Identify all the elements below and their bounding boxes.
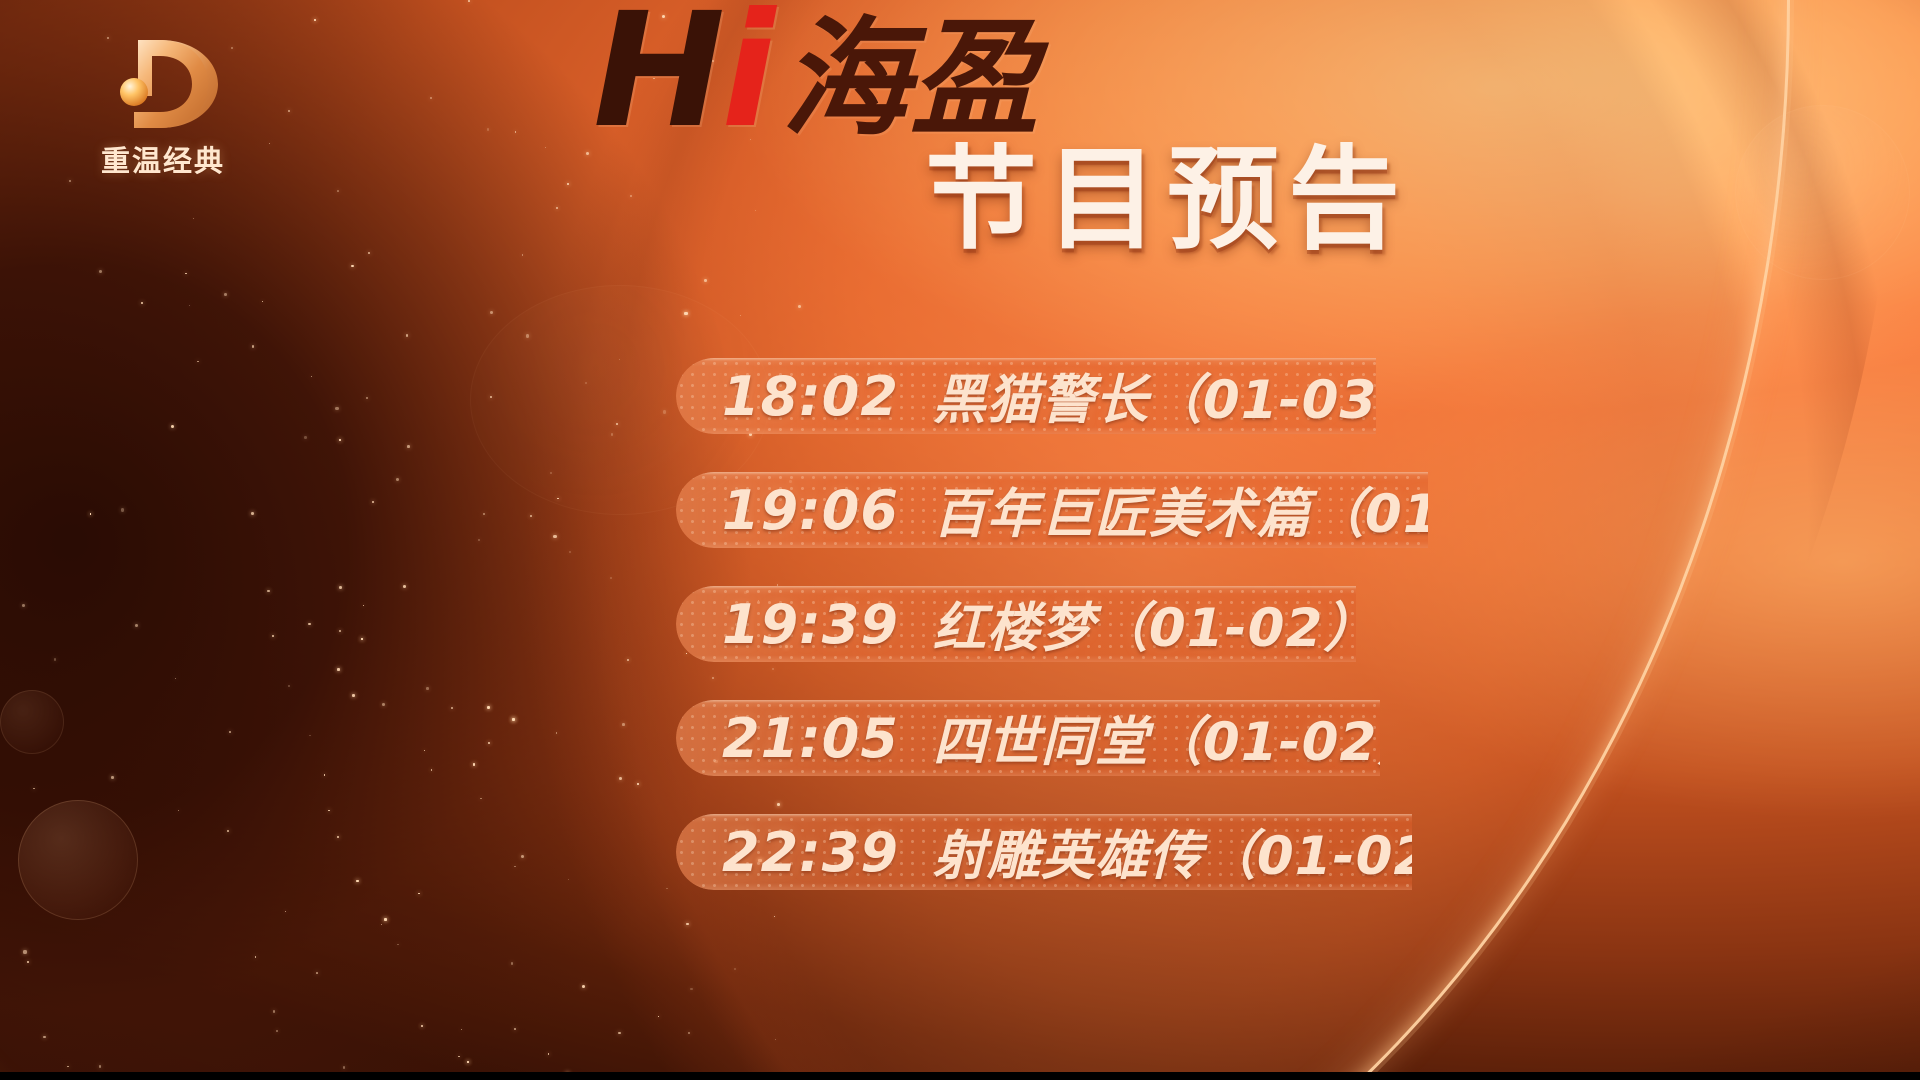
brand-chinese: 海盈 xyxy=(781,16,1039,144)
schedule-time: 18:02 xyxy=(722,365,899,428)
schedule-row: 18:02黑猫警长（01-03） xyxy=(676,358,1376,434)
brand-latin: Hi xyxy=(593,0,771,144)
cctv-swirl-logo-icon xyxy=(104,34,222,134)
brand-lockup: Hi 海盈 xyxy=(585,0,1885,144)
schedule-row: 21:05四世同堂（01-02） xyxy=(676,700,1380,776)
title-block: Hi 海盈 节目预告 xyxy=(585,0,1885,261)
schedule-time: 22:39 xyxy=(722,821,899,884)
schedule-program-title: 百年巨匠美术篇（01） xyxy=(933,472,1428,548)
schedule-program-title: 四世同堂（01-02） xyxy=(933,700,1380,776)
schedule-row: 19:39红楼梦（01-02） xyxy=(676,586,1356,662)
schedule-time: 19:39 xyxy=(722,593,899,656)
broadcast-promo-graphic: 重温经典 Hi 海盈 节目预告 18:02黑猫警长（01-03）19:06百年巨… xyxy=(0,0,1920,1080)
channel-logo: 重温经典 xyxy=(78,34,248,180)
schedule-list: 18:02黑猫警长（01-03）19:06百年巨匠美术篇（01）19:39红楼梦… xyxy=(676,358,1920,928)
schedule-row-content: 22:39射雕英雄传（01-02） xyxy=(722,814,1412,890)
brand-latin-h: H xyxy=(593,0,721,163)
schedule-row: 22:39射雕英雄传（01-02） xyxy=(676,814,1412,890)
brand-latin-i: i xyxy=(721,0,771,163)
schedule-row-content: 19:06百年巨匠美术篇（01） xyxy=(722,472,1428,548)
letterbox-bar xyxy=(0,1072,1920,1080)
schedule-program-title: 射雕英雄传（01-02） xyxy=(933,814,1412,890)
page-title: 节目预告 xyxy=(585,140,1885,261)
schedule-row: 19:06百年巨匠美术篇（01） xyxy=(676,472,1428,548)
schedule-program-title: 黑猫警长（01-03） xyxy=(933,358,1376,434)
schedule-program-title: 红楼梦（01-02） xyxy=(933,586,1356,662)
schedule-row-content: 18:02黑猫警长（01-03） xyxy=(722,358,1376,434)
schedule-row-content: 21:05四世同堂（01-02） xyxy=(722,700,1380,776)
channel-logo-caption: 重温经典 xyxy=(78,138,248,180)
schedule-time: 19:06 xyxy=(722,479,899,542)
schedule-time: 21:05 xyxy=(722,707,899,770)
schedule-row-content: 19:39红楼梦（01-02） xyxy=(722,586,1356,662)
